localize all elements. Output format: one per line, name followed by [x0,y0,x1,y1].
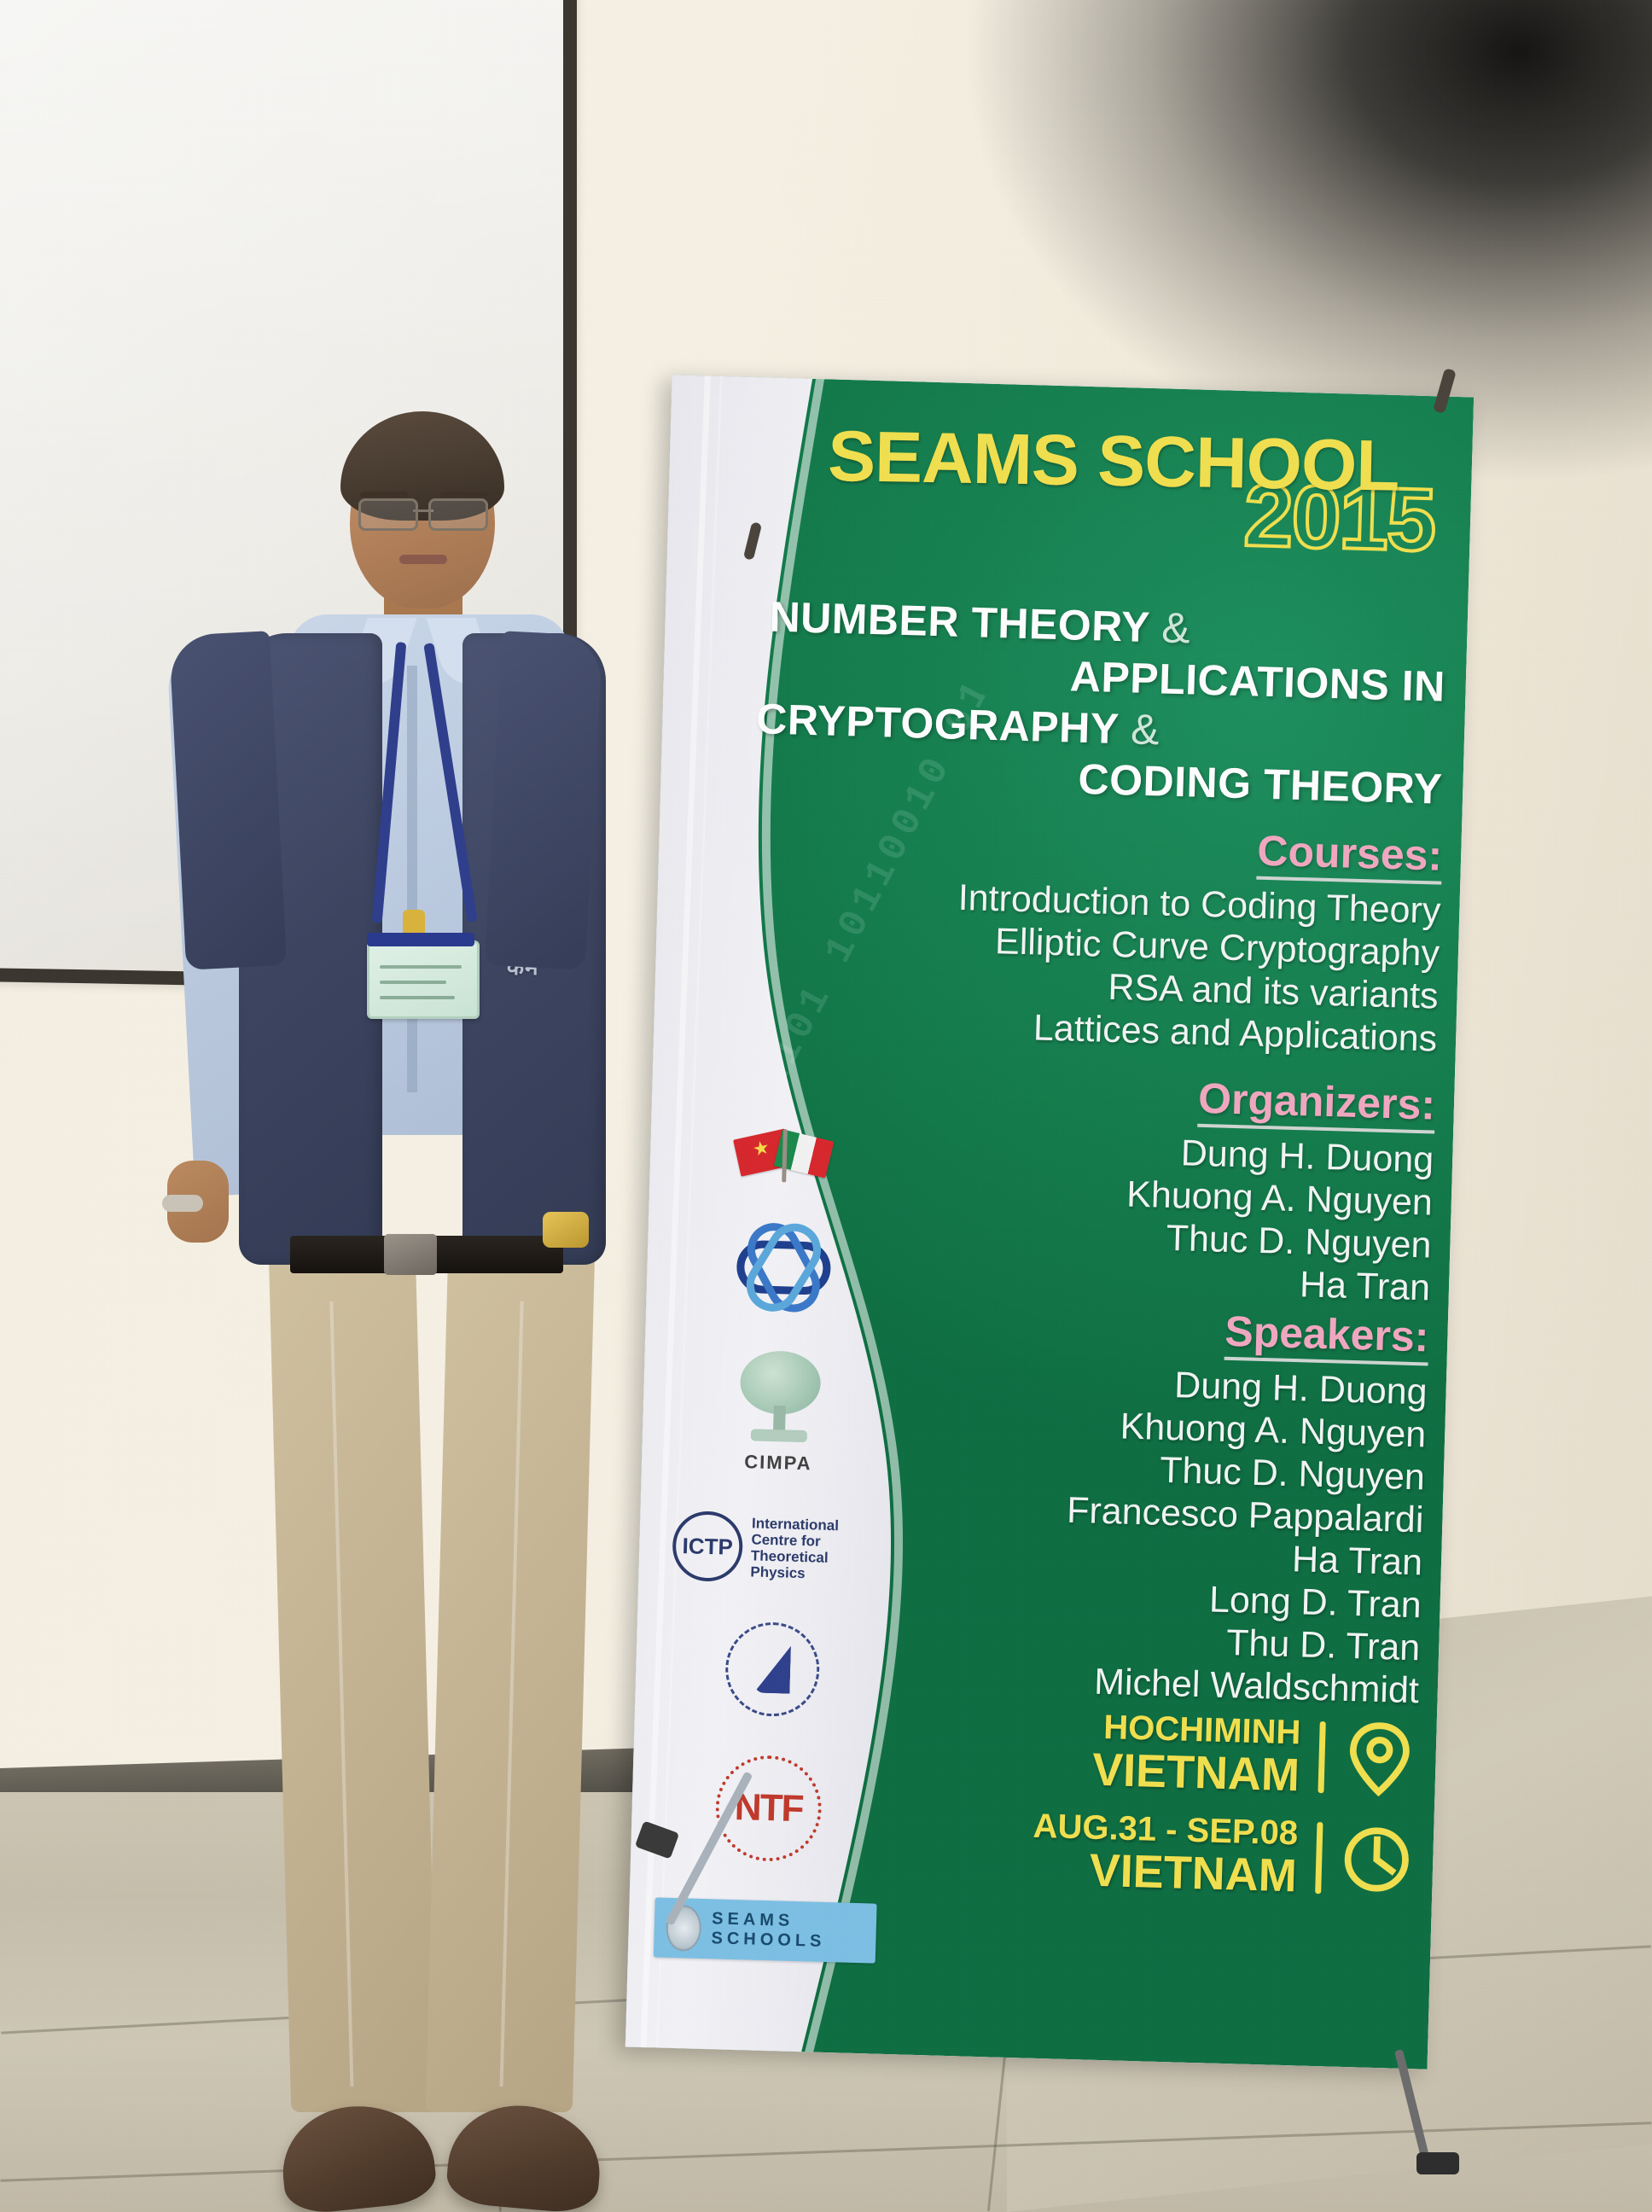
map-pin-icon [1342,1720,1416,1797]
ampersand-1: & [1161,603,1191,652]
seal-sail-shape [753,1645,791,1694]
trouser-leg-right [426,1250,595,2112]
eyebrow-right [440,492,488,498]
courses-heading: Courses: [1257,825,1443,885]
sponsor-logo: NTF [656,1752,881,1864]
eyebrow-left [360,492,408,498]
cimpa-tree-icon [732,1350,829,1448]
banner-date-text: AUG.31 - SEP.08 VIETNAM [1032,1807,1299,1901]
seams-schools-caption: SEAMS SCHOOLS [711,1909,864,1953]
ictp-ring-icon: ICTP [672,1511,743,1582]
eyeglass-lens-right [428,498,488,531]
belt-buckle [384,1234,437,1275]
clock-icon [1340,1821,1413,1898]
trousers [280,1250,584,2112]
vietnam-italy-flags-icon [736,1128,838,1185]
eyeglasses [357,498,490,527]
seams-knot-icon [735,1222,833,1313]
date-country: VIETNAM [1032,1845,1298,1901]
mouth [399,555,447,564]
date-range: AUG.31 - SEP.08 [1032,1807,1299,1853]
badge-text-line [380,996,455,999]
badge-text-line [380,981,446,984]
cimpa-caption: CIMPA [744,1451,812,1475]
ampersand-2: & [1130,705,1160,754]
banner-section-courses: Courses: Introduction to Coding Theory E… [806,812,1443,1061]
sponsor-logo: SEAMS SCHOOLS [654,1897,877,1963]
banner-subtitle-block: NUMBER THEORY & APPLICATIONS IN CRYPTOGR… [746,591,1461,815]
tree-base [751,1429,807,1442]
banner-location-text: HOCHIMINH VIETNAM [1091,1708,1301,1800]
banner-sponsor-logos: CIMPA ICTP International Centre for Theo… [652,1126,898,2003]
photo-scene: कम 01 [0,0,1652,2212]
eyeglass-lens-left [358,498,418,531]
trouser-leg-left [269,1250,438,2112]
university-seal-icon [724,1621,821,1718]
vest-armhole-left [169,631,287,970]
sponsor-logo [672,1220,896,1315]
wrist-bracelet [162,1195,203,1212]
flag-pole [782,1129,788,1182]
badge-clip [367,933,474,946]
vest-armhole-right [485,631,602,970]
seams-schools-badge-icon: SEAMS SCHOOLS [654,1897,877,1963]
organizers-heading: Organizers: [1197,1073,1436,1134]
banner-title-main: SEAMS SCHOOL [771,419,1455,503]
ictp-logo-icon: ICTP International Centre for Theoretica… [672,1511,880,1586]
sponsor-logo: CIMPA [667,1348,893,1477]
wristwatch [543,1212,589,1248]
speakers-heading: Speakers: [1224,1306,1430,1366]
sponsor-logo: ICTP International Centre for Theoretica… [664,1511,887,1586]
sponsor-logo [660,1620,885,1720]
footer-divider [1318,1721,1325,1793]
sponsor-logo [675,1126,899,1187]
footer-divider [1315,1822,1323,1894]
banner-title-block: SEAMS SCHOOL 2015 [770,416,1456,562]
trouser-crease [500,1301,524,2087]
location-country: VIETNAM [1091,1746,1300,1800]
banner-foot-right [1416,2152,1459,2174]
name-badge [367,940,480,1019]
subtitle-text-3: CRYPTOGRAPHY [756,695,1120,753]
ictp-caption: International Centre for Theoretical Phy… [750,1515,880,1583]
badge-text-line [380,965,462,969]
conference-banner: 01001101 10110010 01101001 10010110 0101… [625,375,1474,2069]
trouser-crease [329,1301,353,2087]
courses-list: Introduction to Coding Theory Elliptic C… [806,872,1441,1061]
subtitle-text-1: NUMBER THEORY [769,593,1150,651]
person-figure: कम [128,410,606,2014]
